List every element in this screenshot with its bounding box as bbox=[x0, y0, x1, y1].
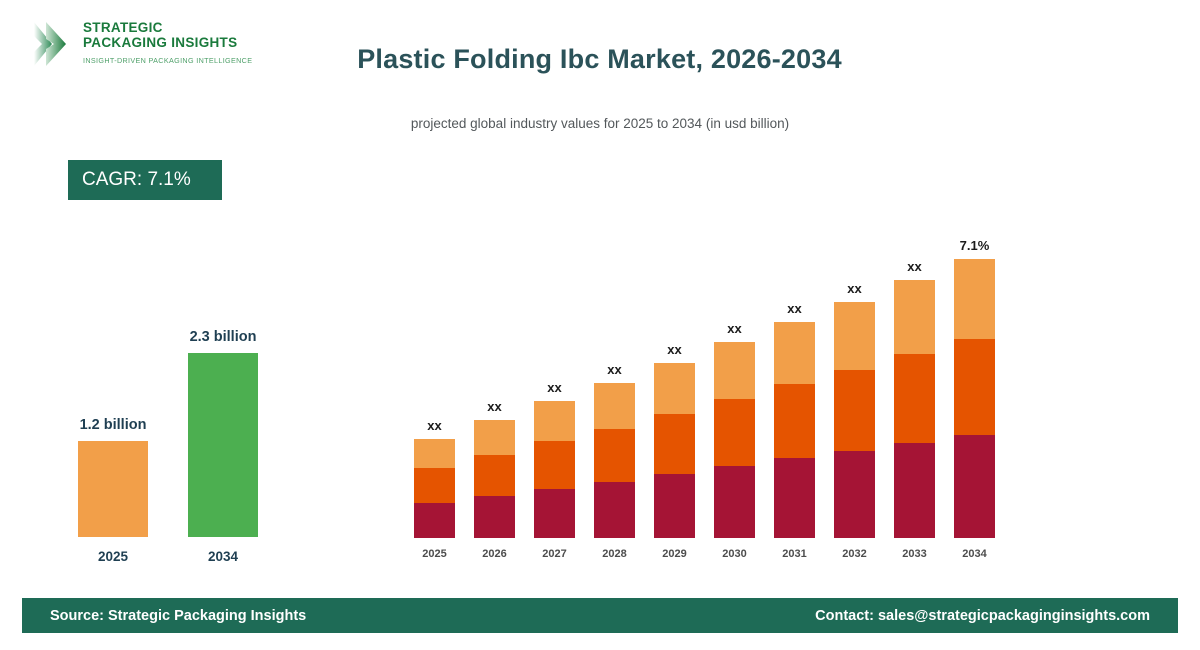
comparison-bar-value-label: 1.2 billion bbox=[80, 417, 147, 433]
stacked-bar-segment-segment-1 bbox=[954, 435, 995, 538]
stacked-bar-column-2034: 7.1%2034 bbox=[954, 196, 995, 560]
stacked-bar-segment-segment-1 bbox=[834, 451, 875, 538]
stacked-bar-segment-segment-3 bbox=[654, 363, 695, 414]
stacked-forecast-bar-chart: xx2025xx2026xx2027xx2028xx2029xx2030xx20… bbox=[404, 196, 1004, 560]
stacked-bar-stack bbox=[414, 439, 455, 538]
stacked-bar-segment-segment-3 bbox=[594, 383, 635, 429]
comparison-bar-value-label: 2.3 billion bbox=[190, 329, 257, 345]
stacked-bar-segment-segment-2 bbox=[414, 468, 455, 503]
stacked-bar-segment-segment-3 bbox=[954, 259, 995, 339]
stacked-bar-column-2031: xx2031 bbox=[774, 196, 815, 560]
stacked-bar-segment-segment-2 bbox=[714, 399, 755, 466]
stacked-bar-segment-segment-3 bbox=[474, 420, 515, 455]
stacked-bar-segment-segment-3 bbox=[834, 302, 875, 370]
stacked-bar-segment-segment-3 bbox=[774, 322, 815, 384]
stacked-bar-stack bbox=[534, 401, 575, 538]
stacked-bar-stack bbox=[654, 363, 695, 538]
stacked-bar-value-label: xx bbox=[487, 399, 501, 414]
stacked-bar-segment-segment-3 bbox=[414, 439, 455, 468]
page-title-text: Plastic Folding Ibc Market, 2026-2034 bbox=[357, 44, 842, 75]
comparison-bar-2034: 2.3 billion bbox=[188, 353, 258, 537]
stacked-bar-segment-segment-2 bbox=[654, 414, 695, 474]
page-title: Plastic Folding Ibc Market, 2026-2034 bbox=[0, 44, 1200, 75]
footer-bar: Source: Strategic Packaging Insights Con… bbox=[22, 598, 1178, 633]
stacked-bar-value-label: xx bbox=[727, 321, 741, 336]
stacked-bar-segment-segment-2 bbox=[774, 384, 815, 458]
stacked-bar-segment-segment-1 bbox=[894, 443, 935, 538]
stacked-bar-stack bbox=[774, 322, 815, 538]
stacked-bar-column-2029: xx2029 bbox=[654, 196, 695, 560]
stacked-bar-column-2026: xx2026 bbox=[474, 196, 515, 560]
stacked-bar-segment-segment-1 bbox=[534, 489, 575, 538]
stacked-bar-column-2033: xx2033 bbox=[894, 196, 935, 560]
stacked-bar-value-label: xx bbox=[547, 380, 561, 395]
page-subtitle: projected global industry values for 202… bbox=[0, 116, 1200, 131]
stacked-bar-segment-segment-1 bbox=[414, 503, 455, 538]
stacked-bar-segment-segment-2 bbox=[474, 455, 515, 496]
stacked-bar-stack bbox=[894, 280, 935, 538]
stacked-bar-segment-segment-1 bbox=[594, 482, 635, 538]
stacked-bar-value-label: xx bbox=[667, 342, 681, 357]
stacked-axis-label-2026: 2026 bbox=[482, 548, 506, 560]
stacked-axis-label-2029: 2029 bbox=[662, 548, 686, 560]
stacked-bar-segment-segment-2 bbox=[834, 370, 875, 451]
stacked-bar-segment-segment-1 bbox=[474, 496, 515, 538]
stacked-bar-value-label: xx bbox=[907, 259, 921, 274]
stacked-bar-column-2025: xx2025 bbox=[414, 196, 455, 560]
footer-source: Source: Strategic Packaging Insights bbox=[50, 608, 306, 624]
comparison-axis-label-2034: 2034 bbox=[208, 549, 238, 564]
stacked-bar-stack bbox=[714, 342, 755, 538]
stacked-bar-column-2027: xx2027 bbox=[534, 196, 575, 560]
stacked-axis-label-2027: 2027 bbox=[542, 548, 566, 560]
stacked-bar-value-label: xx bbox=[427, 418, 441, 433]
stacked-bar-segment-segment-3 bbox=[534, 401, 575, 441]
stacked-axis-label-2028: 2028 bbox=[602, 548, 626, 560]
stacked-axis-label-2034: 2034 bbox=[962, 548, 986, 560]
stacked-axis-label-2033: 2033 bbox=[902, 548, 926, 560]
brand-name-line1: STRATEGIC bbox=[83, 21, 252, 36]
stacked-axis-label-2032: 2032 bbox=[842, 548, 866, 560]
stacked-bar-segment-segment-2 bbox=[954, 339, 995, 435]
stacked-bar-column-2028: xx2028 bbox=[594, 196, 635, 560]
stacked-bar-stack bbox=[474, 420, 515, 538]
stacked-bar-stack bbox=[594, 383, 635, 538]
cagr-badge-label: CAGR: 7.1% bbox=[82, 169, 191, 191]
cagr-badge: CAGR: 7.1% bbox=[68, 160, 222, 200]
comparison-axis-label-2025: 2025 bbox=[98, 549, 128, 564]
stacked-bar-segment-segment-2 bbox=[594, 429, 635, 482]
stacked-bar-value-label: xx bbox=[607, 362, 621, 377]
stacked-axis-label-2030: 2030 bbox=[722, 548, 746, 560]
start-vs-end-bar-chart: 1.2 billion20252.3 billion2034 bbox=[60, 300, 290, 570]
stacked-bar-segment-segment-2 bbox=[534, 441, 575, 489]
footer-contact: Contact: sales@strategicpackaginginsight… bbox=[815, 608, 1150, 624]
stacked-bar-segment-segment-3 bbox=[714, 342, 755, 399]
stacked-bar-segment-segment-2 bbox=[894, 354, 935, 443]
stacked-bar-stack bbox=[834, 302, 875, 538]
stacked-bar-value-label: xx bbox=[847, 281, 861, 296]
stacked-axis-label-2031: 2031 bbox=[782, 548, 806, 560]
stacked-bar-segment-segment-1 bbox=[714, 466, 755, 538]
stacked-bar-stack bbox=[954, 259, 995, 538]
comparison-bar-rect bbox=[188, 353, 258, 537]
stacked-bar-segment-segment-3 bbox=[894, 280, 935, 354]
stacked-bar-column-2030: xx2030 bbox=[714, 196, 755, 560]
comparison-bar-2025: 1.2 billion bbox=[78, 441, 148, 537]
stacked-bar-segment-segment-1 bbox=[774, 458, 815, 538]
stacked-bar-value-label: 7.1% bbox=[960, 238, 990, 253]
stacked-bar-value-label: xx bbox=[787, 301, 801, 316]
stacked-bar-column-2032: xx2032 bbox=[834, 196, 875, 560]
stacked-axis-label-2025: 2025 bbox=[422, 548, 446, 560]
stacked-bar-segment-segment-1 bbox=[654, 474, 695, 538]
comparison-bar-rect bbox=[78, 441, 148, 537]
